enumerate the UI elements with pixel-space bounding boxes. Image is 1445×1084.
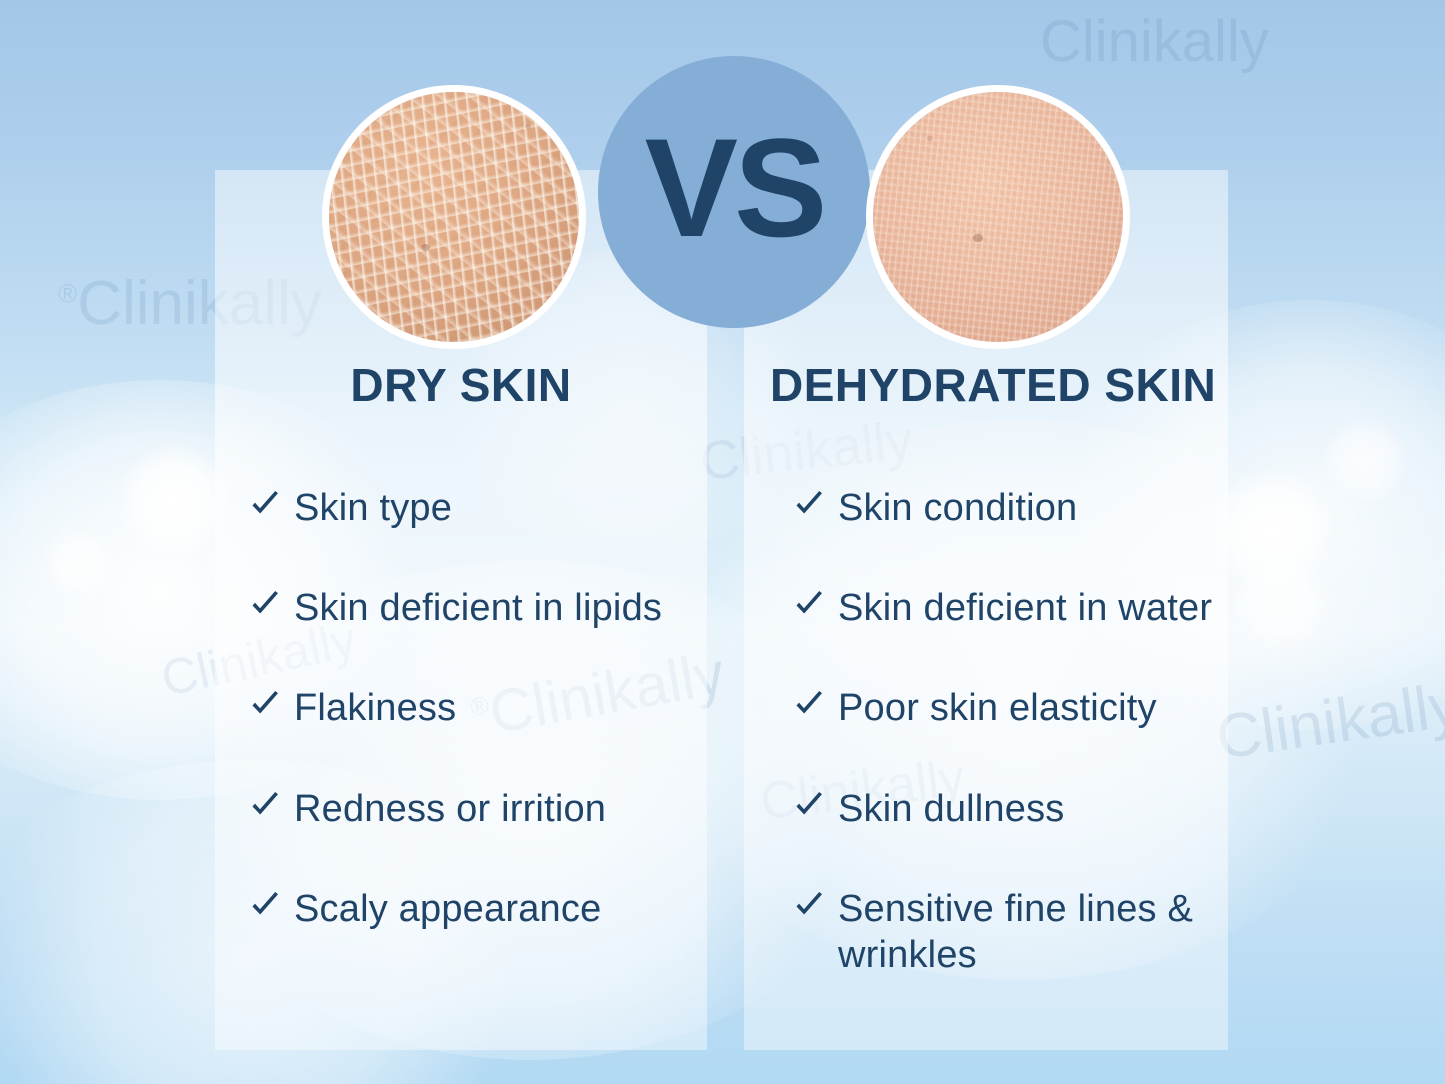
check-icon xyxy=(250,490,280,524)
list-item-label: Skin deficient in water xyxy=(838,585,1212,631)
versus-badge: VS xyxy=(598,56,870,328)
column-dry-skin: DRY SKIN Skin type Skin deficient in lip… xyxy=(215,360,707,932)
check-icon xyxy=(794,791,824,825)
list-item-label: Skin deficient in lipids xyxy=(294,585,662,631)
list-item: Skin dullness xyxy=(794,786,1244,832)
list-item-label: Skin condition xyxy=(838,485,1077,531)
bokeh-highlight xyxy=(118,444,230,556)
check-icon xyxy=(794,490,824,524)
dehydrated-skin-texture xyxy=(873,92,1123,342)
list-item-label: Scaly appearance xyxy=(294,886,601,932)
brand-watermark: Clinikally xyxy=(1040,8,1269,75)
registered-mark-icon: ® xyxy=(58,278,77,308)
skin-blemish xyxy=(973,234,983,242)
feature-list-dehydrated: Skin condition Skin deficient in water P… xyxy=(744,485,1244,979)
list-item: Skin deficient in lipids xyxy=(250,585,707,631)
list-item-label: Poor skin elasticity xyxy=(838,685,1157,731)
check-icon xyxy=(250,690,280,724)
check-icon xyxy=(250,590,280,624)
skin-blemish xyxy=(421,244,430,251)
list-item: Scaly appearance xyxy=(250,886,707,932)
skin-blemish xyxy=(927,136,933,141)
dehydrated-skin-image xyxy=(866,85,1130,349)
skin-blemish xyxy=(525,124,531,129)
list-item-label: Skin dullness xyxy=(838,786,1065,832)
dry-skin-image xyxy=(322,85,586,349)
brand-watermark-text: Clinikally xyxy=(1040,9,1269,74)
check-icon xyxy=(794,590,824,624)
list-item-label: Skin type xyxy=(294,485,452,531)
list-item-label: Redness or irrition xyxy=(294,786,606,832)
check-icon xyxy=(794,690,824,724)
column-title-dry: DRY SKIN xyxy=(215,360,707,411)
list-item: Skin condition xyxy=(794,485,1244,531)
list-item: Poor skin elasticity xyxy=(794,685,1244,731)
bokeh-highlight xyxy=(1234,556,1330,652)
versus-label: VS xyxy=(645,118,824,258)
brand-watermark-text: Clinikally xyxy=(1212,670,1445,772)
feature-list-dry: Skin type Skin deficient in lipids Flaki… xyxy=(215,485,707,933)
bokeh-highlight xyxy=(44,528,114,598)
list-item: Skin deficient in water xyxy=(794,585,1244,631)
infographic-canvas: ®Clinikally Clinikally ®Clinikally Clini… xyxy=(0,0,1445,1084)
check-icon xyxy=(250,891,280,925)
list-item: Sensitive fine lines & wrinkles xyxy=(794,886,1244,979)
list-item: Flakiness xyxy=(250,685,707,731)
dry-skin-texture xyxy=(329,92,579,342)
list-item-label: Flakiness xyxy=(294,685,456,731)
column-dehydrated-skin: DEHYDRATED SKIN Skin condition Skin defi… xyxy=(744,360,1244,979)
list-item: Skin type xyxy=(250,485,707,531)
check-icon xyxy=(250,791,280,825)
column-title-dehydrated: DEHYDRATED SKIN xyxy=(744,360,1244,411)
brand-watermark: Clinikally xyxy=(1212,669,1445,773)
list-item-label: Sensitive fine lines & wrinkles xyxy=(838,886,1244,979)
list-item: Redness or irrition xyxy=(250,786,707,832)
bokeh-highlight xyxy=(1324,418,1408,502)
check-icon xyxy=(794,891,824,925)
